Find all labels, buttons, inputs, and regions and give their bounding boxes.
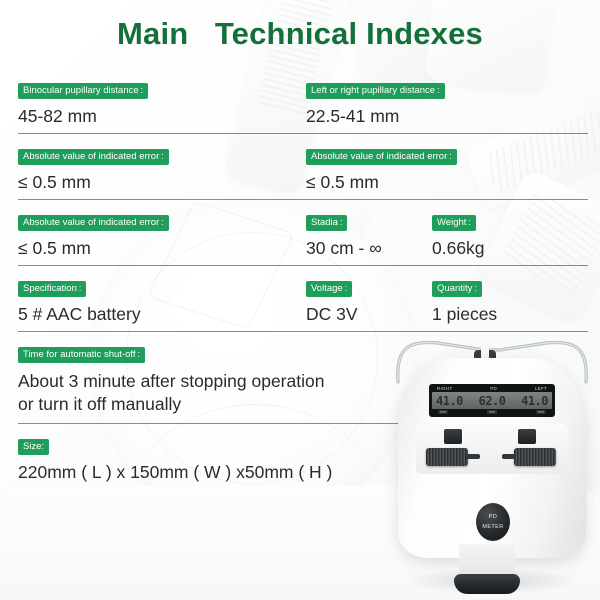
pd-meter-device-photo: RIGHT PD LEFT 41.0 62.0 41.0 mm mm mm	[382, 322, 600, 600]
device-base	[454, 574, 520, 594]
lcd-unit-pd: mm	[487, 410, 497, 414]
spec-cell: Quantity : 1 pieces	[432, 278, 588, 325]
spec-row: Absolute value of indicated error : ≤ 0.…	[18, 146, 588, 200]
device-button-right-eye[interactable]	[444, 429, 462, 444]
spec-label: Binocular pupillary distance :	[18, 83, 148, 99]
spec-label: Size:	[18, 439, 49, 455]
spec-label: Voltage :	[306, 281, 352, 297]
device-pd-meter-badge: PD METER	[476, 503, 510, 541]
device-slider-left-eye[interactable]	[514, 448, 556, 466]
device-lcd-header-labels: RIGHT PD LEFT	[432, 386, 552, 391]
lcd-label-right: RIGHT	[437, 386, 453, 391]
spec-row: Absolute value of indicated error : ≤ 0.…	[18, 212, 588, 266]
lcd-label-left: LEFT	[535, 386, 547, 391]
lcd-unit-right: mm	[438, 410, 448, 414]
lcd-value-right: 41.0	[436, 394, 463, 408]
device-control-panel	[416, 424, 568, 474]
spec-value: ≤ 0.5 mm	[306, 172, 588, 193]
spec-cell: Weight : 0.66kg	[432, 212, 588, 259]
spec-label: Absolute value of indicated error :	[18, 149, 169, 165]
spec-label: Quantity :	[432, 281, 482, 297]
spec-label: Left or right pupillary distance :	[306, 83, 445, 99]
row-divider	[18, 133, 588, 134]
spec-value: 22.5-41 mm	[306, 106, 588, 127]
spec-cell: Binocular pupillary distance : 45-82 mm	[18, 80, 306, 127]
lcd-label-pd: PD	[490, 386, 497, 391]
device-lcd-readout: 41.0 62.0 41.0	[432, 392, 552, 409]
spec-value: ≤ 0.5 mm	[18, 238, 306, 259]
spec-value: 30 cm - ∞	[306, 238, 432, 259]
lcd-unit-left: mm	[536, 410, 546, 414]
row-divider	[18, 423, 408, 424]
lcd-value-left: 41.0	[521, 394, 548, 408]
spec-value: ≤ 0.5 mm	[18, 172, 306, 193]
device-body: RIGHT PD LEFT 41.0 62.0 41.0 mm mm mm	[398, 358, 586, 558]
spec-label: Time for automatic shut-off :	[18, 347, 145, 363]
row-divider	[18, 199, 588, 200]
spec-cell: Absolute value of indicated error : ≤ 0.…	[18, 146, 306, 193]
device-lcd-units: mm mm mm	[432, 410, 552, 414]
spec-row: Binocular pupillary distance : 45-82 mm …	[18, 80, 588, 134]
page-title: Main Technical Indexes	[0, 16, 600, 52]
spec-cell: Left or right pupillary distance : 22.5-…	[306, 80, 588, 127]
spec-label: Stadia :	[306, 215, 347, 231]
product-spec-page: Main Technical Indexes Binocular pupilla…	[0, 0, 600, 600]
spec-value: 45-82 mm	[18, 106, 306, 127]
spec-label: Absolute value of indicated error :	[306, 149, 457, 165]
lcd-value-pd: 62.0	[479, 394, 506, 408]
spec-label: Absolute value of indicated error :	[18, 215, 169, 231]
spec-cell: Stadia : 30 cm - ∞	[306, 212, 432, 259]
spec-value: 5 # AAC battery	[18, 304, 306, 325]
spec-cell: Absolute value of indicated error : ≤ 0.…	[18, 212, 306, 259]
row-divider	[18, 265, 588, 266]
spec-cell: Specification : 5 # AAC battery	[18, 278, 306, 325]
device-lcd-screen: RIGHT PD LEFT 41.0 62.0 41.0 mm mm mm	[429, 384, 555, 417]
device-badge-line-2: METER	[482, 524, 503, 530]
spec-cell: Voltage : DC 3V	[306, 278, 432, 325]
device-badge-line-1: PD	[489, 514, 497, 520]
spec-value: 0.66kg	[432, 238, 588, 259]
device-slider-right-eye[interactable]	[426, 448, 468, 466]
spec-cell: Absolute value of indicated error : ≤ 0.…	[306, 146, 588, 193]
spec-label: Weight :	[432, 215, 476, 231]
spec-label: Specification :	[18, 281, 86, 297]
device-button-left-eye[interactable]	[518, 429, 536, 444]
